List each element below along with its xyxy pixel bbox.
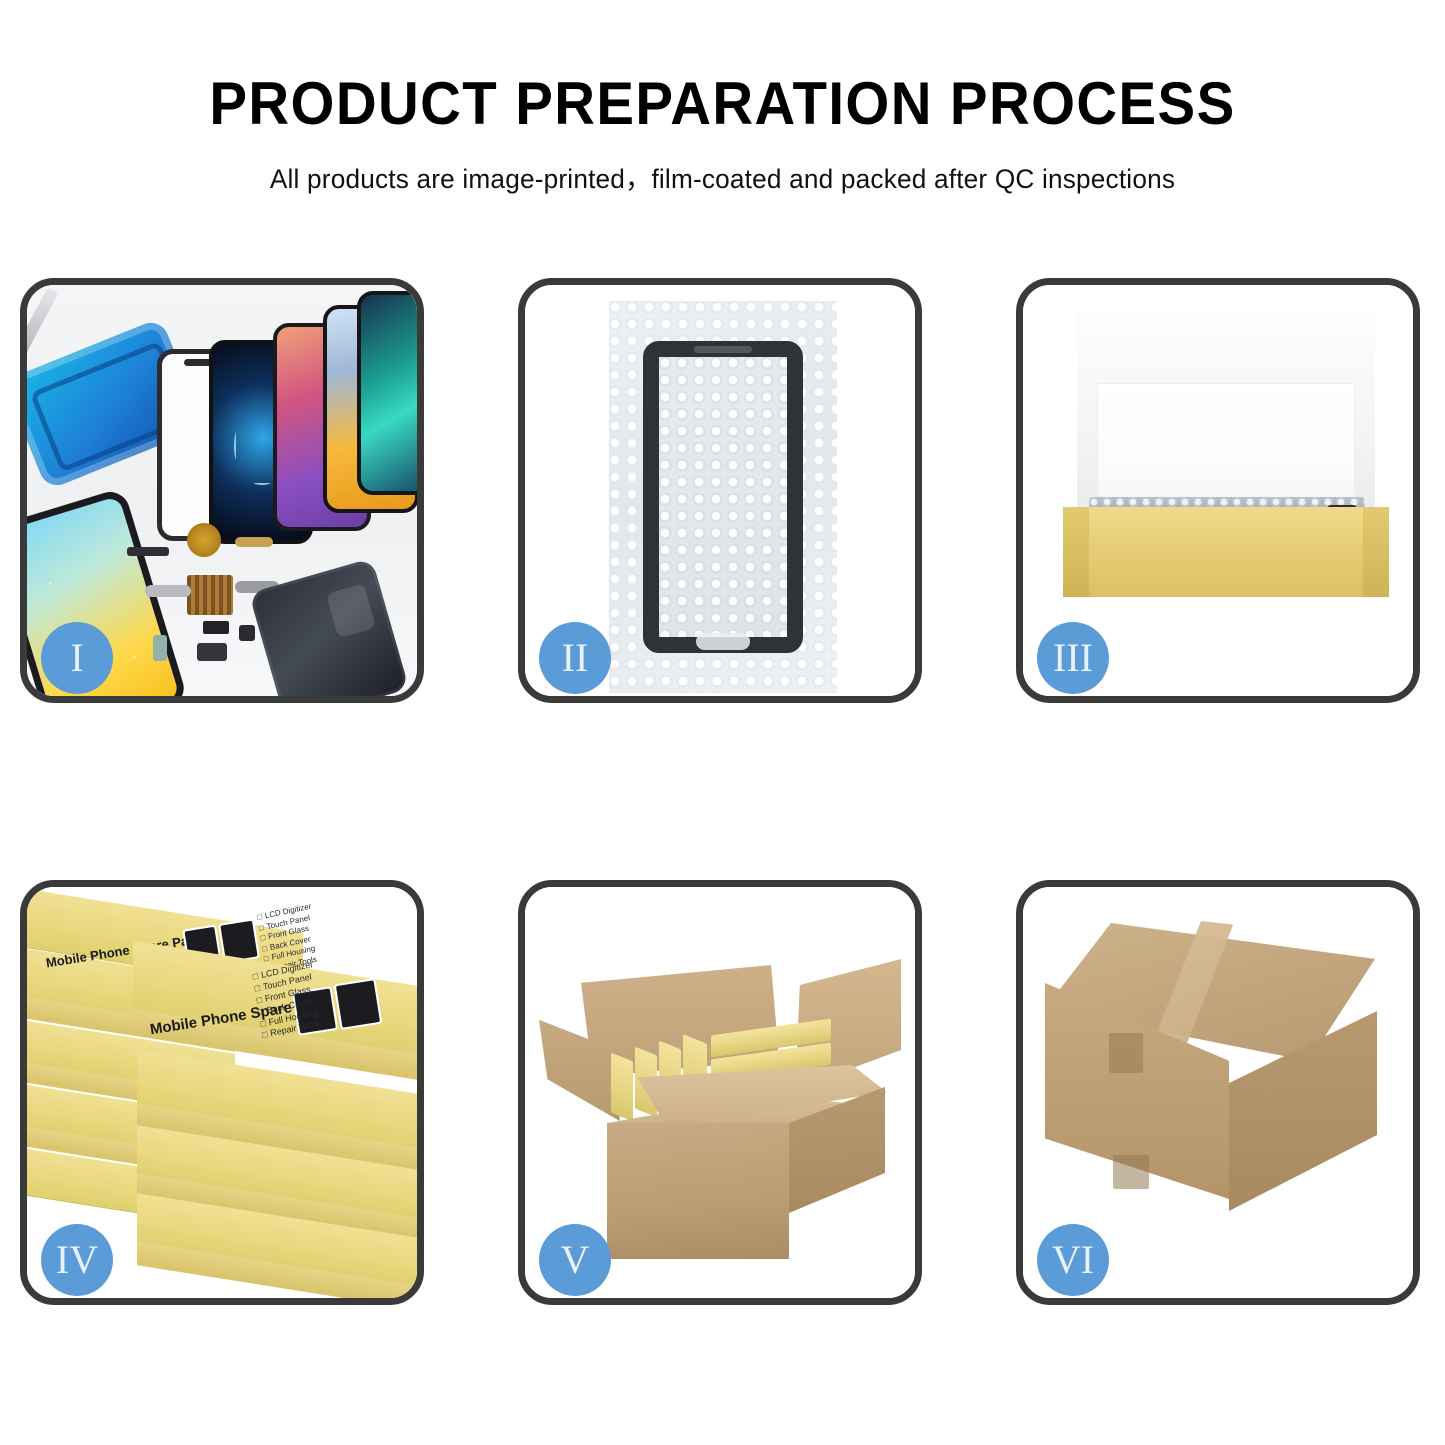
process-row-bottom: Mobile Phone Spare Parts LCD Digitizer T… (20, 880, 1425, 1305)
page-header: PRODUCT PREPARATION PROCESS All products… (0, 0, 1445, 196)
step-badge-1: I (41, 622, 113, 694)
process-step-3[interactable]: III (1016, 278, 1420, 703)
component-bar (127, 547, 169, 556)
process-grid: I II (20, 278, 1425, 1305)
box-thumbnail-front-2 (334, 978, 383, 1030)
flex-cable-2 (145, 585, 191, 597)
tray-side-right (1363, 507, 1389, 597)
retail-box-checklist-front: LCD Digitizer Touch Panel Front Glass Ba… (252, 959, 323, 1042)
step-badge-3: III (1037, 622, 1109, 694)
earpiece-slot (694, 346, 752, 353)
wrapped-phone-screen (643, 341, 803, 653)
process-step-6[interactable]: VI (1016, 880, 1420, 1305)
mesh-component (187, 575, 233, 615)
mailer-box-tray (1063, 507, 1389, 597)
step-badge-6: VI (1037, 1224, 1109, 1296)
process-step-5[interactable]: V (518, 880, 922, 1305)
process-step-1[interactable]: I (20, 278, 424, 703)
camera-module (239, 625, 255, 641)
step-badge-2: II (539, 622, 611, 694)
bubble-wrap-sheet (609, 301, 837, 693)
home-button-slot (696, 633, 750, 650)
foam-insert (1097, 383, 1355, 511)
page-subtitle: All products are image-printed，film-coat… (22, 157, 1424, 196)
process-step-4[interactable]: Mobile Phone Spare Parts LCD Digitizer T… (20, 880, 424, 1305)
process-row-top: I II (20, 278, 1425, 703)
chip-component (203, 621, 229, 634)
page-title: PRODUCT PREPARATION PROCESS (43, 72, 1401, 135)
wireless-charging-coil (187, 523, 221, 557)
teal-phone-screen (357, 291, 417, 495)
step-badge-5: V (539, 1224, 611, 1296)
carton-tab-upper (1109, 1033, 1143, 1073)
tray-side-left (1063, 507, 1089, 597)
inner-box-1 (611, 1053, 633, 1122)
carton-front-face (607, 1123, 789, 1259)
flex-cable-1 (235, 537, 273, 547)
process-step-2[interactable]: II (518, 278, 922, 703)
step-badge-4: IV (41, 1224, 113, 1296)
sim-tray (153, 635, 167, 661)
carton-tab-lower (1113, 1155, 1149, 1189)
speaker-component (197, 643, 227, 661)
